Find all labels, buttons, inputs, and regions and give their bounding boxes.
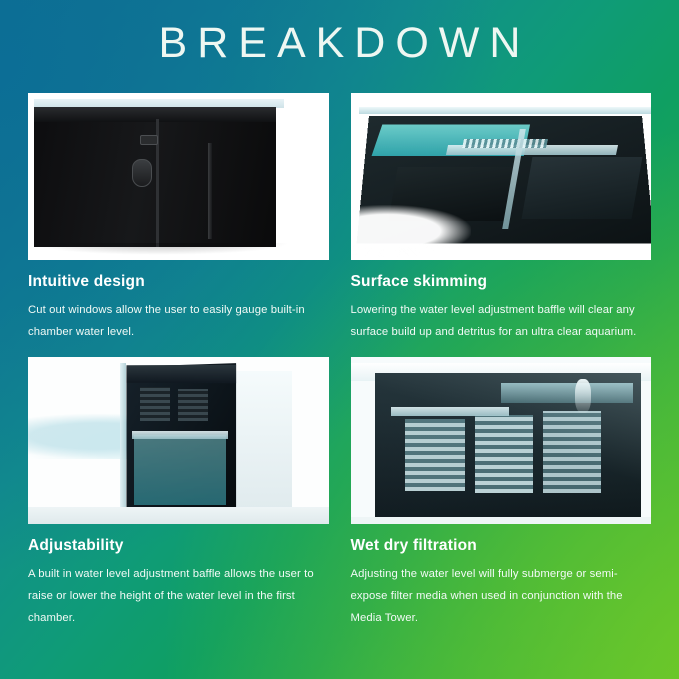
feature-title: Wet dry filtration xyxy=(351,537,652,555)
cabinet-lid xyxy=(34,107,276,122)
water-splash-highlight xyxy=(351,205,471,257)
feature-card-surface-skimming: Surface skimming Lowering the water leve… xyxy=(351,93,652,343)
floor-shadow xyxy=(28,243,290,255)
filter-media-block-right xyxy=(178,389,208,421)
sump-top-down-teal-water-photo xyxy=(351,93,652,260)
feature-body: Lowering the water level adjustment baff… xyxy=(351,299,652,343)
glass-top-edge xyxy=(359,107,651,114)
adjustment-baffle xyxy=(132,431,228,439)
cutout-window-upper xyxy=(140,135,158,145)
page-title: BREAKDOWN xyxy=(0,0,679,65)
feature-card-wet-dry-filtration: Wet dry filtration Adjusting the water l… xyxy=(351,357,652,629)
glass-front-reflection xyxy=(375,373,641,521)
feature-body: Cut out windows allow the user to easily… xyxy=(28,299,329,343)
filter-media-block-left xyxy=(140,387,170,421)
feature-title: Intuitive design xyxy=(28,273,329,291)
filter-tower-lid xyxy=(126,365,236,383)
cutout-window-lower xyxy=(132,159,152,187)
submerged-filter-media-photo xyxy=(351,357,652,524)
black-cabinet-front-photo xyxy=(28,93,329,260)
room-wall-panel xyxy=(236,371,292,517)
return-pipe xyxy=(208,143,212,239)
feature-grid: Intuitive design Cut out windows allow t… xyxy=(0,65,679,629)
sump-chamber-right xyxy=(521,157,642,219)
glass-left-edge xyxy=(120,363,126,523)
feature-body: A built in water level adjustment baffle… xyxy=(28,563,329,629)
floor-surface xyxy=(351,517,652,524)
floor-surface xyxy=(28,507,329,524)
feature-title: Surface skimming xyxy=(351,273,652,291)
baffle-comb-teeth xyxy=(462,139,548,148)
feature-card-adjustability: Adjustability A built in water level adj… xyxy=(28,357,329,629)
feature-card-intuitive-design: Intuitive design Cut out windows allow t… xyxy=(28,93,329,343)
feature-body: Adjusting the water level will fully sub… xyxy=(351,563,652,629)
feature-title: Adjustability xyxy=(28,537,329,555)
cabinet-body xyxy=(34,107,276,247)
poster-canvas: BREAKDOWN Intuitive design Cut out windo… xyxy=(0,0,679,679)
water-column xyxy=(134,435,226,505)
tall-filter-tower-photo xyxy=(28,357,329,524)
